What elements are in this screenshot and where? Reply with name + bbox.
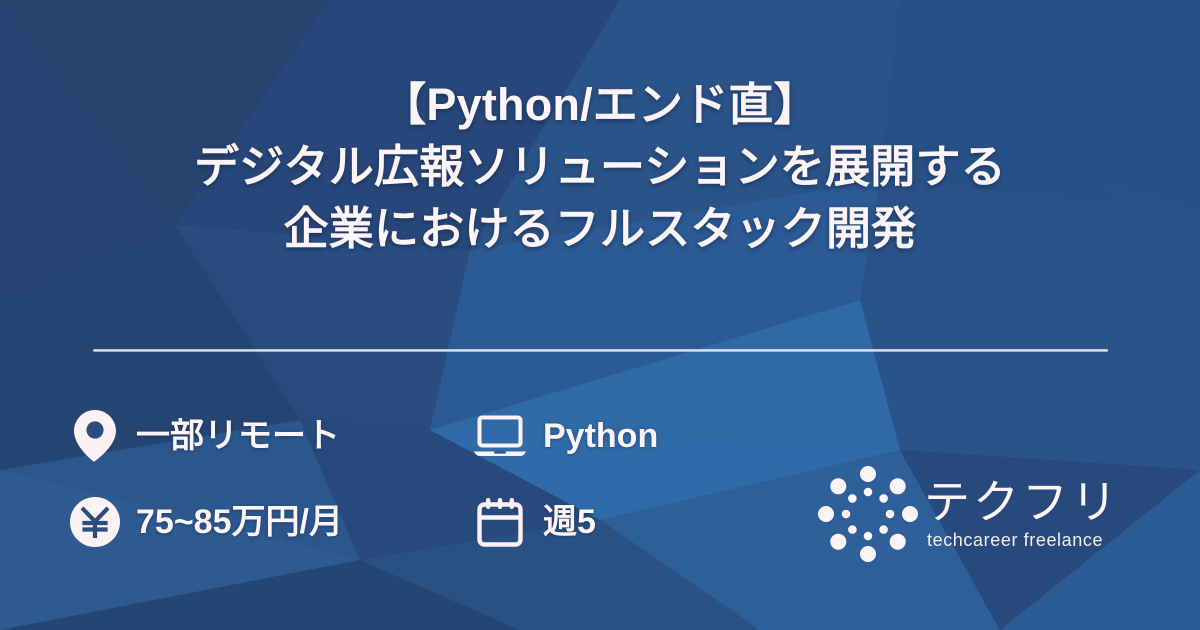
brand-logo: テクフリ techcareer freelance	[818, 464, 1138, 564]
job-title-line-2: デジタル広報ソリューションを展開する	[0, 136, 1200, 198]
job-title-line-3: 企業におけるフルスタック開発	[0, 198, 1200, 260]
job-title-line-1: 【Python/エンド直】	[0, 74, 1200, 136]
job-meta-days: 週5	[471, 493, 801, 551]
laptop-icon	[471, 407, 529, 465]
job-meta-skill-label: Python	[543, 419, 658, 453]
job-meta-work-style: 一部リモート	[66, 407, 471, 465]
yen-circle-icon	[66, 493, 124, 551]
brand-name-jp: テクフリ	[924, 477, 1120, 527]
job-offer-card: 【Python/エンド直】 デジタル広報ソリューションを展開する 企業におけるフ…	[0, 0, 1200, 630]
job-meta-days-label: 週5	[543, 505, 596, 539]
location-pin-icon	[66, 407, 124, 465]
job-meta-grid: 一部リモート Python	[66, 393, 806, 565]
brand-logo-text: テクフリ techcareer freelance	[924, 477, 1120, 551]
dot-cluster-icon	[818, 466, 918, 562]
divider	[93, 349, 1108, 352]
job-meta-pay: 75~85万円/月	[66, 493, 471, 551]
job-title: 【Python/エンド直】 デジタル広報ソリューションを展開する 企業におけるフ…	[0, 74, 1200, 260]
brand-name-en: techcareer freelance	[927, 529, 1103, 551]
calendar-icon	[471, 493, 529, 551]
job-meta-work-style-label: 一部リモート	[136, 419, 340, 453]
job-meta-pay-label: 75~85万円/月	[136, 505, 343, 539]
job-meta-row-1: 一部リモート Python	[66, 393, 806, 479]
job-meta-row-2: 75~85万円/月 週5	[66, 479, 806, 565]
job-meta-skill: Python	[471, 407, 801, 465]
